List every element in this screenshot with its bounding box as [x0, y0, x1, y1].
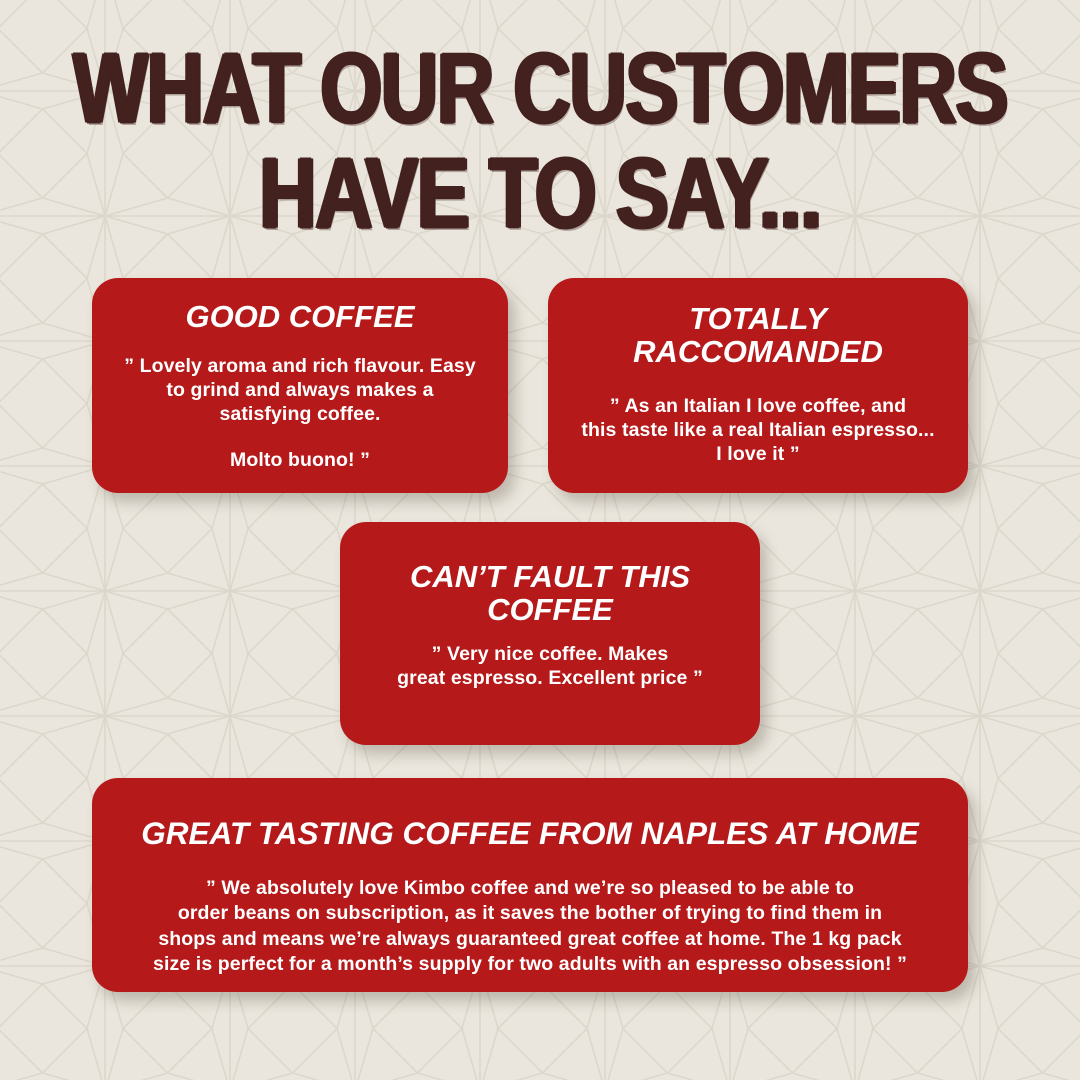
testimonial-title: GOOD COFFEE	[185, 300, 414, 333]
testimonial-poster: WHAT OUR CUSTOMERS HAVE TO SAY... GOOD C…	[0, 0, 1080, 1080]
testimonial-card-good-coffee: GOOD COFFEE ” Lovely aroma and rich flav…	[92, 278, 508, 493]
page-title-line-1: WHAT OUR CUSTOMERS	[16, 42, 1064, 138]
testimonial-card-totally-raccomanded: TOTALLY RACCOMANDED ” As an Italian I lo…	[548, 278, 968, 493]
testimonial-quote: ” Lovely aroma and rich flavour. Easy to…	[124, 355, 476, 426]
testimonial-quote: ” Very nice coffee. Makes great espresso…	[397, 643, 703, 691]
testimonial-title: TOTALLY RACCOMANDED	[566, 302, 950, 369]
testimonial-card-cant-fault-this-coffee: CAN’T FAULT THIS COFFEE ” Very nice coff…	[340, 522, 760, 745]
testimonial-quote: ” We absolutely love Kimbo coffee and we…	[153, 876, 907, 977]
testimonial-quote: ” As an Italian I love coffee, and this …	[581, 395, 934, 466]
testimonial-title: CAN’T FAULT THIS COFFEE	[410, 560, 690, 627]
testimonial-title: GREAT TASTING COFFEE FROM NAPLES AT HOME	[141, 816, 919, 850]
testimonial-card-great-tasting-coffee: GREAT TASTING COFFEE FROM NAPLES AT HOME…	[92, 778, 968, 992]
testimonial-quote-extra: Molto buono! ”	[230, 449, 370, 473]
page-title: WHAT OUR CUSTOMERS HAVE TO SAY...	[0, 42, 1080, 225]
page-title-line-2: HAVE TO SAY...	[16, 147, 1064, 243]
